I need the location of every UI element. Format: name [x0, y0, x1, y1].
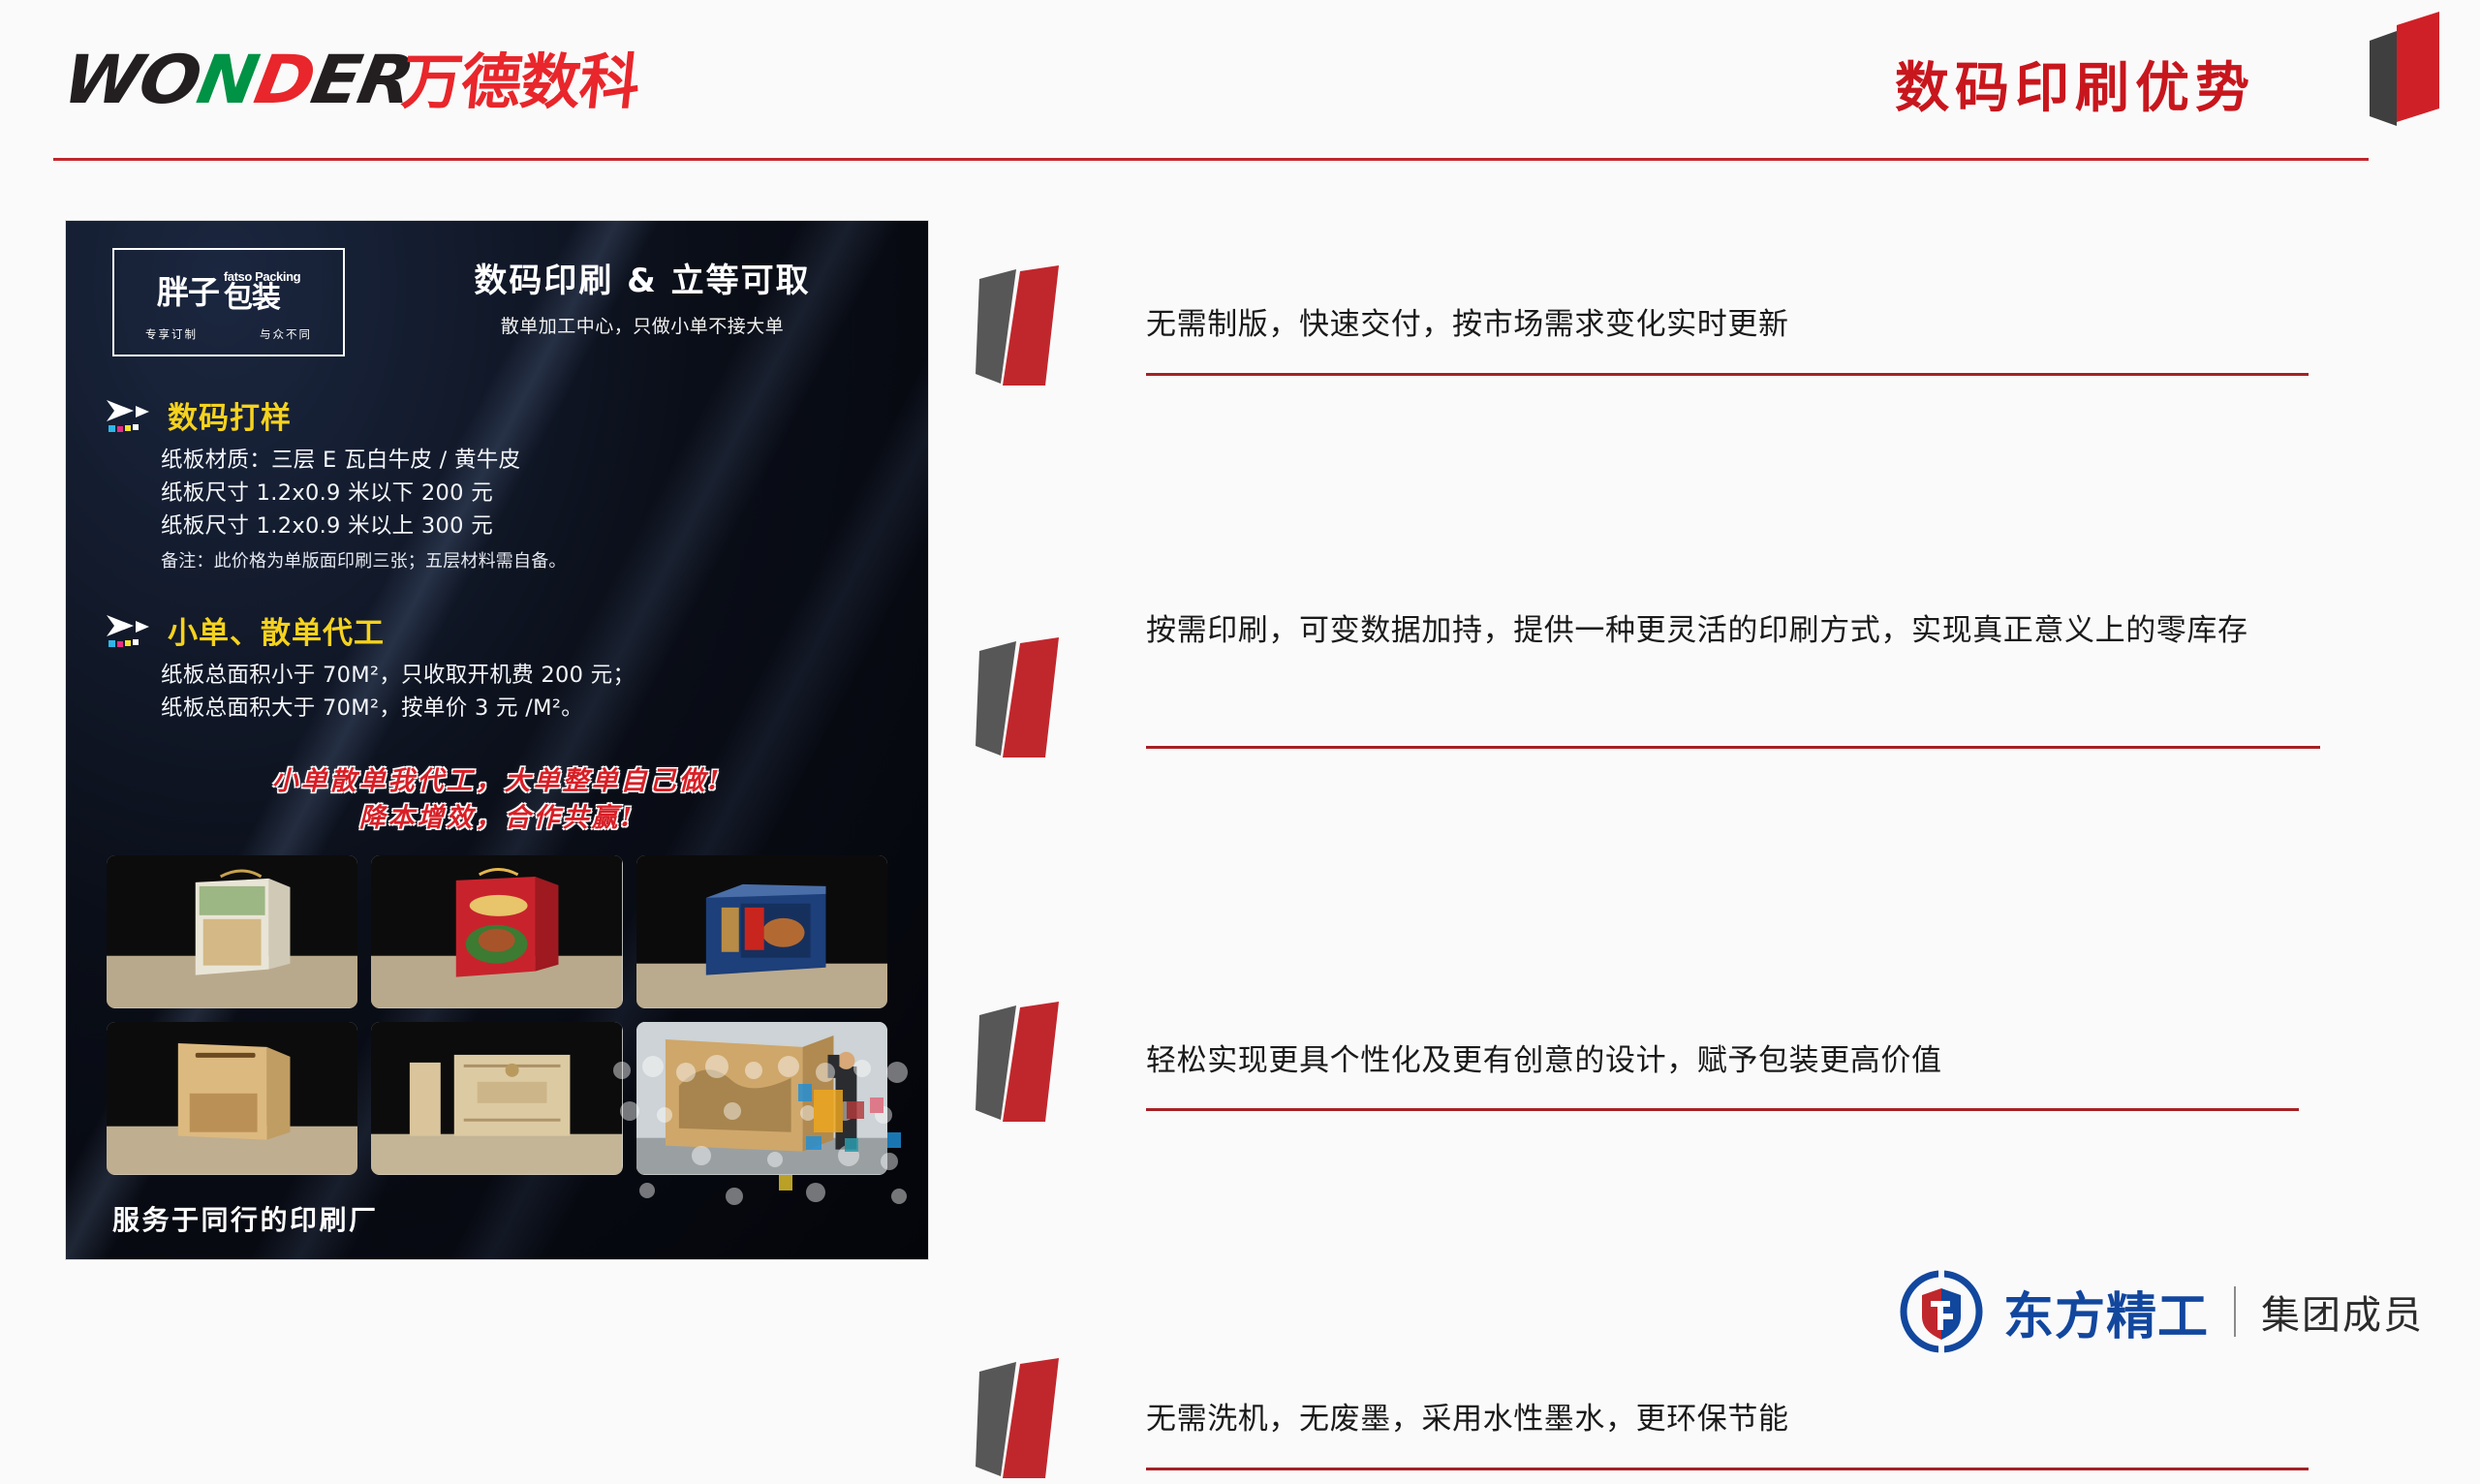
- fatso-logo-sub-left: 专享订制: [145, 326, 198, 342]
- group-logo-name: 东方精工: [2003, 1276, 2209, 1348]
- advantages-list: 无需制版，快速交付，按市场需求变化实时更新 按需印刷，可变数据加持，提供一种更灵…: [974, 263, 2325, 651]
- fatso-packing-logo: 胖子 fatso Packing 包装 专享订制 与众不同: [112, 248, 345, 356]
- section-line: 纸板总面积大于 70M²，按单价 3 元 /M²。: [161, 692, 889, 725]
- product-photo: [636, 855, 887, 1008]
- poster-slogan-line2: 降本增效，合作共赢!: [66, 800, 928, 837]
- product-photo: [371, 855, 622, 1008]
- advantage-underline: [1146, 1468, 2309, 1470]
- beef-pie-carton-photo: [636, 855, 887, 1008]
- poster-section-oem: 小单、散单代工 纸板总面积小于 70M²，只收取开机费 200 元； 纸板总面积…: [105, 608, 889, 725]
- company-logo: WONDER 万德数科: [58, 37, 635, 114]
- fatso-logo-sub-right: 与众不同: [260, 326, 312, 342]
- section-line: 纸板尺寸 1.2x0.9 米以下 200 元: [161, 477, 889, 510]
- dongfang-jinggong-emblem-icon: [1899, 1269, 1984, 1354]
- double-chevron-bullet-icon: [974, 1358, 1124, 1484]
- advantage-text: 轻松实现更具个性化及更有创意的设计，赋予包装更高价值: [1146, 1038, 2325, 1084]
- honey-gift-box-photo: [107, 855, 357, 1008]
- header-divider: [53, 158, 2369, 161]
- classic-liquor-gift-box-photo: [371, 1022, 622, 1175]
- advantage-item: 无需制版，快速交付，按市场需求变化实时更新: [974, 263, 2325, 360]
- poster-section-proofing: 数码打样 纸板材质：三层 E 瓦白牛皮 / 黄牛皮 纸板尺寸 1.2x0.9 米…: [105, 393, 889, 572]
- advantage-text: 无需洗机，无废墨，采用水性墨水，更环保节能: [1146, 1397, 2325, 1442]
- advantage-item: 按需印刷，可变数据加持，提供一种更灵活的印刷方式，实现真正意义上的零库存: [974, 591, 2325, 688]
- poster-slogan: 小单散单我代工，大单整单自己做! 降本增效，合作共赢!: [66, 763, 928, 838]
- poster-footer-text: 服务于同行的印刷厂: [112, 1199, 379, 1238]
- group-member-logo: 东方精工 集团成员: [1899, 1269, 2424, 1354]
- page-title: 数码印刷优势: [1895, 45, 2255, 123]
- poster-headline-block: 数码印刷 & 立等可取 散单加工中心，只做小单不接大单: [386, 254, 899, 338]
- advantage-text: 按需印刷，可变数据加持，提供一种更灵活的印刷方式，实现真正意义上的零库存: [1146, 608, 2325, 654]
- double-chevron-bullet-icon: [974, 637, 1124, 763]
- slide-root: WONDER 万德数科 数码印刷优势 胖子 fatso Packing 包装 专…: [0, 0, 2480, 1395]
- advantage-item: 轻松实现更具个性化及更有创意的设计，赋予包装更高价值: [974, 1002, 2325, 1098]
- double-chevron-bullet-icon: [974, 265, 1124, 391]
- product-photo: [107, 855, 357, 1008]
- fatso-logo-cn2: 包装: [224, 284, 300, 313]
- brand-chinese-name: 万德数科: [399, 50, 642, 114]
- footer-logo-divider: [2234, 1286, 2236, 1337]
- section-title: 小单、散单代工: [168, 608, 385, 652]
- corner-decoration-icon: [2346, 8, 2453, 134]
- section-line: 纸板总面积小于 70M²，只收取开机费 200 元；: [161, 659, 889, 692]
- section-note: 备注：此价格为单版面印刷三张；五层材料需自备。: [161, 547, 889, 572]
- product-photo: [107, 1022, 357, 1175]
- roast-chicken-gift-box-photo: [371, 855, 622, 1008]
- brand-wordmark-pre: WO: [57, 42, 205, 119]
- poster-slogan-line1: 小单散单我代工，大单整单自己做!: [66, 763, 928, 800]
- chevron-arrow-icon: [105, 611, 155, 650]
- section-line: 纸板尺寸 1.2x0.9 米以上 300 元: [161, 510, 889, 542]
- group-logo-subtitle: 集团成员: [2261, 1283, 2424, 1340]
- advantage-underline: [1146, 1108, 2299, 1111]
- section-line: 纸板材质：三层 E 瓦白牛皮 / 黄牛皮: [161, 444, 889, 477]
- product-photo: [371, 1022, 622, 1175]
- poster-headline: 数码印刷 & 立等可取: [386, 254, 899, 301]
- promo-poster-image: 胖子 fatso Packing 包装 专享订制 与众不同 数码印刷 & 立等可…: [66, 221, 928, 1259]
- fatso-logo-cn1: 胖子: [157, 276, 219, 308]
- halftone-dots-decoration: [608, 1055, 928, 1215]
- poster-subheadline: 散单加工中心，只做小单不接大单: [386, 312, 899, 338]
- section-title: 数码打样: [168, 393, 292, 437]
- kraft-gift-box-photo: [107, 1022, 357, 1175]
- double-chevron-bullet-icon: [974, 1002, 1124, 1128]
- brand-wordmark: WONDER: [58, 46, 418, 114]
- advantage-text: 无需制版，快速交付，按市场需求变化实时更新: [1146, 302, 2325, 348]
- advantage-underline: [1146, 373, 2309, 376]
- advantage-underline: [1146, 746, 2320, 749]
- chevron-arrow-icon: [105, 396, 155, 435]
